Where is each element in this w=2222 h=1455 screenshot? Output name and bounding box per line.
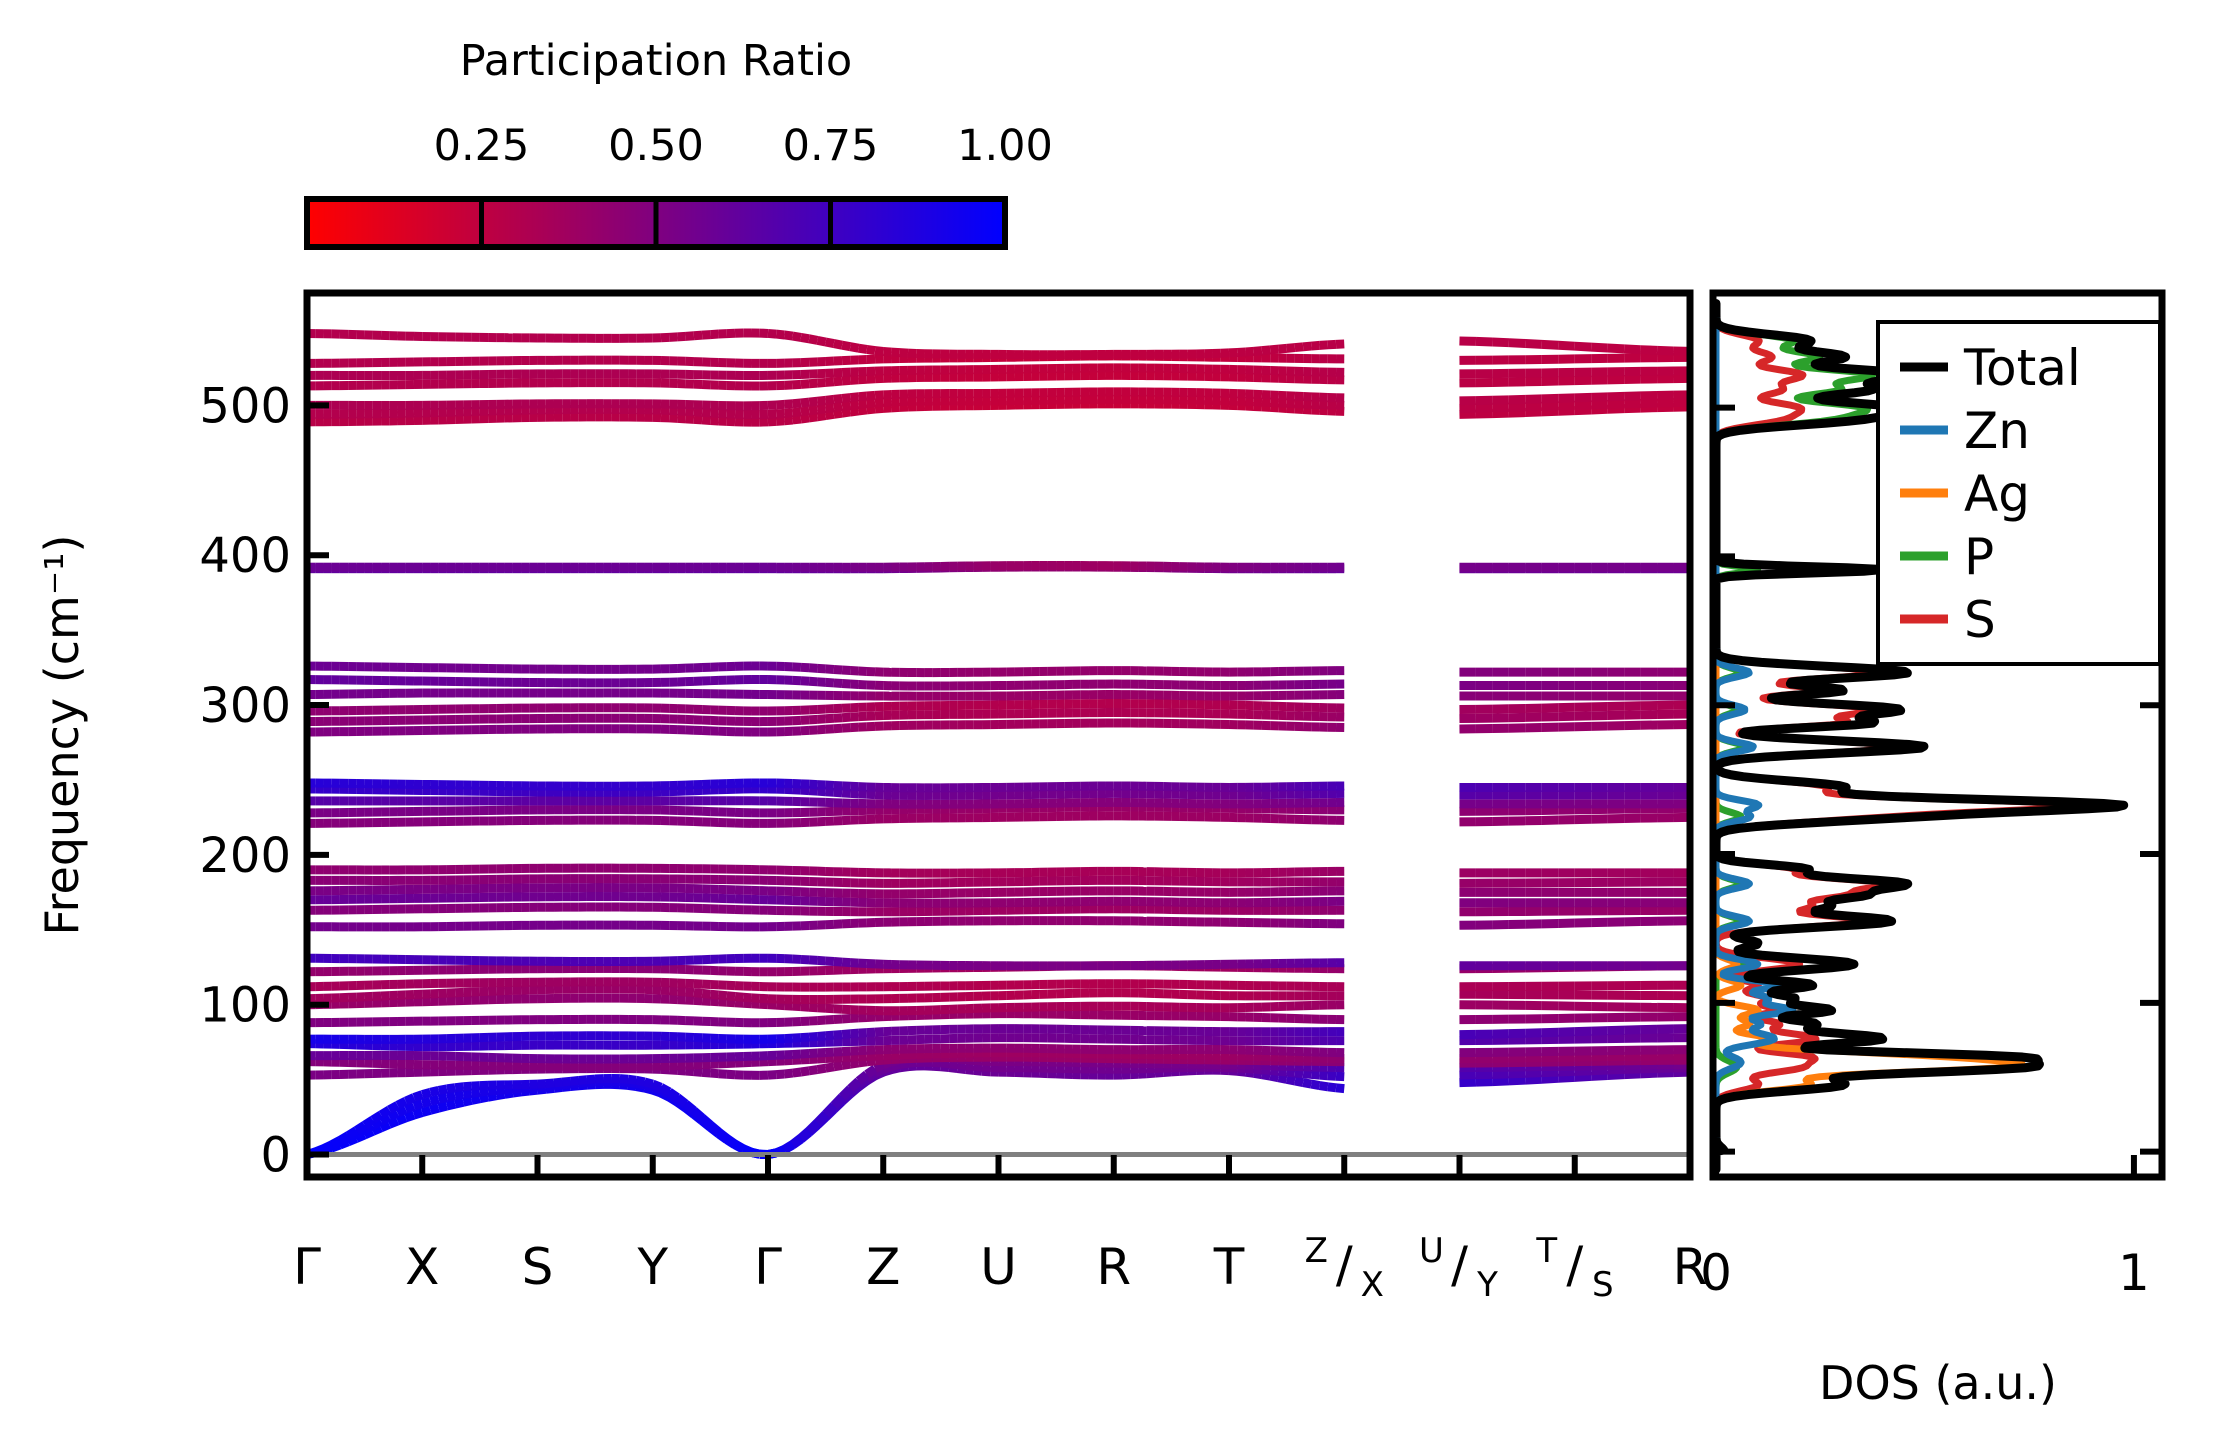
band-segment (677, 991, 685, 992)
band-segment (636, 1080, 644, 1082)
band-segment (834, 1065, 842, 1066)
band-segment (752, 998, 760, 999)
band-segment (488, 1090, 496, 1091)
band-segment (669, 991, 677, 992)
band-segment (801, 1071, 809, 1072)
band-segment (439, 1097, 447, 1099)
band-segment (793, 1138, 801, 1144)
band-segment (686, 411, 694, 412)
colorbar-tick-label: 0.75 (783, 121, 879, 171)
band-segment (628, 1079, 636, 1080)
band-segment (447, 1096, 455, 1098)
band-segment (867, 395, 875, 396)
band-segment (727, 1002, 735, 1003)
band-segment (809, 1036, 817, 1037)
band-segment (463, 1093, 471, 1094)
band-segment (686, 419, 694, 420)
band-segment (1558, 1071, 1574, 1072)
band-segment (406, 1115, 414, 1118)
band-segment (562, 1081, 570, 1082)
band-segment (875, 408, 883, 409)
band-segment (859, 1033, 867, 1034)
band-segment (859, 396, 867, 397)
band-segment (1311, 1084, 1319, 1085)
band-segment (702, 412, 710, 413)
band-segment (834, 407, 842, 408)
band-segment (1542, 411, 1558, 412)
band-segment (826, 414, 834, 415)
band-segment (719, 995, 727, 996)
band-segment (727, 1138, 735, 1144)
band-segment (784, 413, 792, 414)
band-segment (1608, 1075, 1624, 1076)
band-segment (974, 1066, 982, 1067)
band-segment (784, 1006, 792, 1007)
band-segment (1558, 405, 1574, 406)
band-segment (1278, 408, 1286, 409)
band-segment (1295, 1073, 1303, 1074)
band-segment (801, 1007, 809, 1008)
band-segment (801, 1037, 809, 1038)
band-segment (430, 1108, 438, 1110)
band-segment (867, 403, 875, 404)
band-segment (842, 962, 850, 963)
band-segment (702, 1072, 710, 1073)
band-segment (801, 402, 809, 403)
band-segment (348, 1130, 356, 1135)
band-segment (1303, 1074, 1311, 1075)
band-segment (579, 1080, 587, 1081)
band-segment (710, 420, 718, 421)
band-segment (826, 792, 834, 793)
band-segment (826, 1105, 834, 1114)
band-segment (859, 410, 867, 411)
band-segment (1262, 407, 1270, 408)
band-segment (447, 1088, 455, 1089)
band-segment (1295, 1081, 1303, 1083)
band-segment (793, 1006, 801, 1007)
band-segment (398, 1110, 406, 1114)
band-segment (826, 1008, 834, 1009)
band-segment (834, 1034, 842, 1035)
band-segment (1591, 409, 1607, 410)
band-segment (817, 960, 825, 961)
band-segment (661, 990, 669, 991)
band-segment (480, 1091, 488, 1092)
band-segment (710, 1125, 718, 1132)
band-segment (694, 993, 702, 994)
band-segment (686, 1104, 694, 1111)
band-segment (735, 1144, 743, 1149)
band-segment (1558, 1077, 1574, 1078)
band-segment (694, 1111, 702, 1118)
band-segment (850, 717, 858, 718)
band-segment (1320, 1086, 1328, 1087)
band-segment (455, 1102, 463, 1104)
band-segment (1525, 1073, 1541, 1074)
band-segment (793, 1038, 801, 1039)
band-segment (817, 1114, 825, 1122)
band-segment (1295, 409, 1303, 410)
band-segment (875, 395, 883, 396)
band-segment (472, 1092, 480, 1093)
band-segment (842, 1034, 850, 1035)
band-segment (620, 1079, 628, 1080)
band-segment (1542, 1078, 1558, 1079)
band-segment (570, 1080, 578, 1081)
band-segment (1287, 1079, 1295, 1081)
band-segment (406, 1097, 414, 1101)
band-segment (809, 1123, 817, 1131)
band-segment (422, 1101, 430, 1103)
band-segment (809, 681, 817, 682)
band-segment (801, 681, 809, 682)
band-segment (957, 1065, 965, 1066)
band-segment (373, 1115, 381, 1120)
band-segment (1278, 1071, 1286, 1072)
band-segment (1492, 1081, 1508, 1082)
band-segment (686, 1071, 694, 1072)
band-segment (1311, 1074, 1319, 1075)
band-segment (694, 412, 702, 413)
band-segment (1287, 408, 1295, 409)
band-segment (1575, 405, 1591, 406)
band-segment (480, 1097, 488, 1099)
band-segment (1336, 1088, 1344, 1089)
band-segment (793, 1072, 801, 1073)
band-segment (817, 400, 825, 401)
band-segment (315, 1149, 323, 1152)
band-segment (801, 411, 809, 412)
band-segment (883, 408, 891, 409)
band-segment (645, 1082, 653, 1084)
band-segment (677, 1070, 685, 1071)
band-segment (817, 729, 825, 730)
band-segment (826, 1035, 834, 1036)
band-segment (365, 1120, 373, 1125)
band-segment (966, 1065, 974, 1066)
band-segment (842, 683, 850, 684)
colorbar-tick-label: 0.50 (608, 121, 704, 171)
band-segment (472, 1099, 480, 1101)
band-segment (323, 1145, 331, 1149)
band-segment (422, 1092, 430, 1094)
band-segment (653, 1084, 661, 1087)
band-segment (430, 1099, 438, 1101)
band-segment (1542, 406, 1558, 407)
band-segment (743, 1149, 751, 1152)
band-segment (1624, 1074, 1640, 1075)
band-segment (702, 993, 710, 994)
band-segment (850, 963, 858, 964)
band-segment (439, 1106, 447, 1108)
band-segment (496, 1090, 504, 1091)
band-segment (743, 997, 751, 998)
band-segment (1575, 1031, 1591, 1032)
band-segment (776, 413, 784, 414)
band-segment (834, 1019, 842, 1020)
band-segment (842, 670, 850, 671)
band-segment (1492, 413, 1508, 414)
band-segment (809, 960, 817, 961)
band-segment (793, 403, 801, 404)
band-segment (817, 719, 825, 720)
band-segment (867, 409, 875, 410)
band-segment (826, 729, 834, 730)
band-segment (447, 1104, 455, 1106)
band-segment (817, 1020, 825, 1021)
band-segment (834, 728, 842, 729)
band-segment (710, 1073, 718, 1074)
band-segment (784, 1144, 792, 1149)
band-segment (867, 1069, 875, 1075)
band-segment (719, 1002, 727, 1003)
band-segment (488, 1096, 496, 1097)
band-segment (381, 1110, 389, 1115)
band-segment (554, 1082, 562, 1083)
band-segment (850, 405, 858, 406)
band-segment (1492, 1074, 1508, 1075)
band-segment (1542, 1032, 1558, 1033)
band-segment (809, 417, 817, 418)
band-segment (850, 1033, 858, 1034)
band-segment (710, 994, 718, 995)
band-segment (834, 413, 842, 414)
band-segment (875, 402, 883, 403)
band-segment (817, 1036, 825, 1037)
band-segment (809, 1070, 817, 1071)
band-segment (817, 1068, 825, 1069)
band-segment (702, 420, 710, 421)
band-segment (842, 398, 850, 399)
band-segment (719, 1132, 727, 1138)
band-segment (1558, 1032, 1574, 1033)
band-segment (686, 992, 694, 993)
band-segment (784, 404, 792, 405)
band-segment (398, 1101, 406, 1105)
band-segment (826, 682, 834, 683)
band-segment (834, 1097, 842, 1106)
band-segment (776, 1074, 784, 1075)
band-segment (842, 793, 850, 794)
band-segment (842, 406, 850, 407)
band-segment (1262, 1075, 1270, 1076)
band-segment (1525, 1079, 1541, 1080)
band-segment (784, 1073, 792, 1074)
band-segment (1303, 1083, 1311, 1085)
band-segment (1138, 1074, 1146, 1075)
band-segment (406, 1106, 414, 1109)
band-segment (859, 1074, 867, 1081)
band-segment (817, 668, 825, 669)
band-segment (859, 1062, 867, 1063)
band-segment (834, 718, 842, 719)
phonon-figure: Participation Ratio 0.250.500.751.00 010… (0, 0, 2222, 1455)
band-segment (867, 1061, 875, 1062)
band-segment (826, 669, 834, 670)
colorbar-tick-label: 1.00 (957, 121, 1053, 171)
band-segment (1591, 1031, 1607, 1032)
band-segment (842, 1064, 850, 1065)
band-segment (809, 791, 817, 792)
band-segment (735, 997, 743, 998)
band-segment (1476, 1082, 1492, 1083)
band-segment (1542, 1072, 1558, 1073)
band-segment (826, 1067, 834, 1068)
band-segment (834, 683, 842, 684)
band-segment (867, 1032, 875, 1033)
band-segment (1328, 1076, 1336, 1077)
band-segment (422, 1110, 430, 1112)
band-segment (694, 1072, 702, 1073)
band-segment (784, 420, 792, 421)
band-segment (817, 1008, 825, 1009)
band-segment (817, 416, 825, 417)
band-segment (661, 1087, 669, 1092)
band-segment (455, 1094, 463, 1095)
band-segment (1270, 1076, 1278, 1078)
band-segment (463, 1100, 471, 1102)
band-segment (340, 1136, 348, 1141)
band-segment (463, 1086, 471, 1087)
band-segment (801, 418, 809, 419)
band-segment (817, 682, 825, 683)
band-segment (414, 1104, 422, 1107)
band-segment (356, 1125, 364, 1130)
band-segment (1270, 407, 1278, 408)
band-segment (817, 791, 825, 792)
band-segment (842, 412, 850, 413)
band-segment (842, 728, 850, 729)
band-segment (587, 1079, 595, 1080)
band-segment (455, 1087, 463, 1088)
band-segment (1147, 1073, 1155, 1074)
band-segment (1558, 411, 1574, 412)
band-segment (842, 1089, 850, 1097)
band-segment (850, 1018, 858, 1019)
band-segment (826, 1020, 834, 1021)
band-segment (1525, 412, 1541, 413)
band-segment (842, 717, 850, 718)
band-segment (834, 669, 842, 670)
band-segment (826, 961, 834, 962)
band-segment (1270, 1070, 1278, 1071)
band-segment (850, 1081, 858, 1089)
band-segment (809, 730, 817, 731)
band-segment (793, 419, 801, 420)
band-segment (817, 409, 825, 410)
band-segment (727, 996, 735, 997)
band-segment (332, 1140, 340, 1144)
band-segment (669, 1092, 677, 1098)
band-segment (809, 719, 817, 720)
band-segment (694, 419, 702, 420)
band-segment (1591, 1076, 1607, 1077)
band-segment (398, 1118, 406, 1121)
band-segment (1509, 413, 1525, 414)
band-segment (1608, 409, 1624, 410)
band-segment (1278, 1078, 1286, 1080)
colorbar-tick-label: 0.25 (434, 121, 530, 171)
band-segment (850, 727, 858, 728)
band-segment (949, 1064, 957, 1065)
band-segment (809, 401, 817, 402)
band-segment (414, 1095, 422, 1098)
band-segment (859, 404, 867, 405)
band-segment (1287, 1072, 1295, 1073)
band-segment (809, 1007, 817, 1008)
band-segment (1575, 1071, 1591, 1072)
band-segment (546, 1083, 554, 1084)
band-segment (801, 1131, 809, 1138)
band-segment (809, 410, 817, 411)
band-segment (430, 1090, 438, 1092)
band-segment (850, 1063, 858, 1064)
band-segment (414, 1113, 422, 1116)
band-segment (776, 404, 784, 405)
band-segment (1320, 1075, 1328, 1076)
band-segment (834, 962, 842, 963)
band-segment (1575, 410, 1591, 411)
band-segment (1575, 1076, 1591, 1077)
band-segment (1591, 404, 1607, 405)
band-segment (850, 411, 858, 412)
band-segment (1328, 1087, 1336, 1088)
colorbar-title: Participation Ratio (460, 36, 853, 86)
band-segment (702, 1118, 710, 1125)
band-segment (793, 412, 801, 413)
band-segment (941, 1063, 949, 1064)
band-segment (842, 1018, 850, 1019)
band-segment (389, 1105, 397, 1110)
figure-root: Participation Ratio 0.250.500.751.00 010… (0, 0, 2222, 1455)
band-segment (1509, 1080, 1525, 1081)
band-segment (809, 668, 817, 669)
band-segment (850, 397, 858, 398)
band-segment (834, 398, 842, 399)
band-segment (826, 718, 834, 719)
band-segment (826, 408, 834, 409)
band-segment (826, 399, 834, 400)
band-segment (1509, 1073, 1525, 1074)
band-segment (439, 1089, 447, 1091)
band-segment (719, 1074, 727, 1075)
band-segment (776, 421, 784, 422)
band-segment (677, 1097, 685, 1103)
band-segment (834, 792, 842, 793)
